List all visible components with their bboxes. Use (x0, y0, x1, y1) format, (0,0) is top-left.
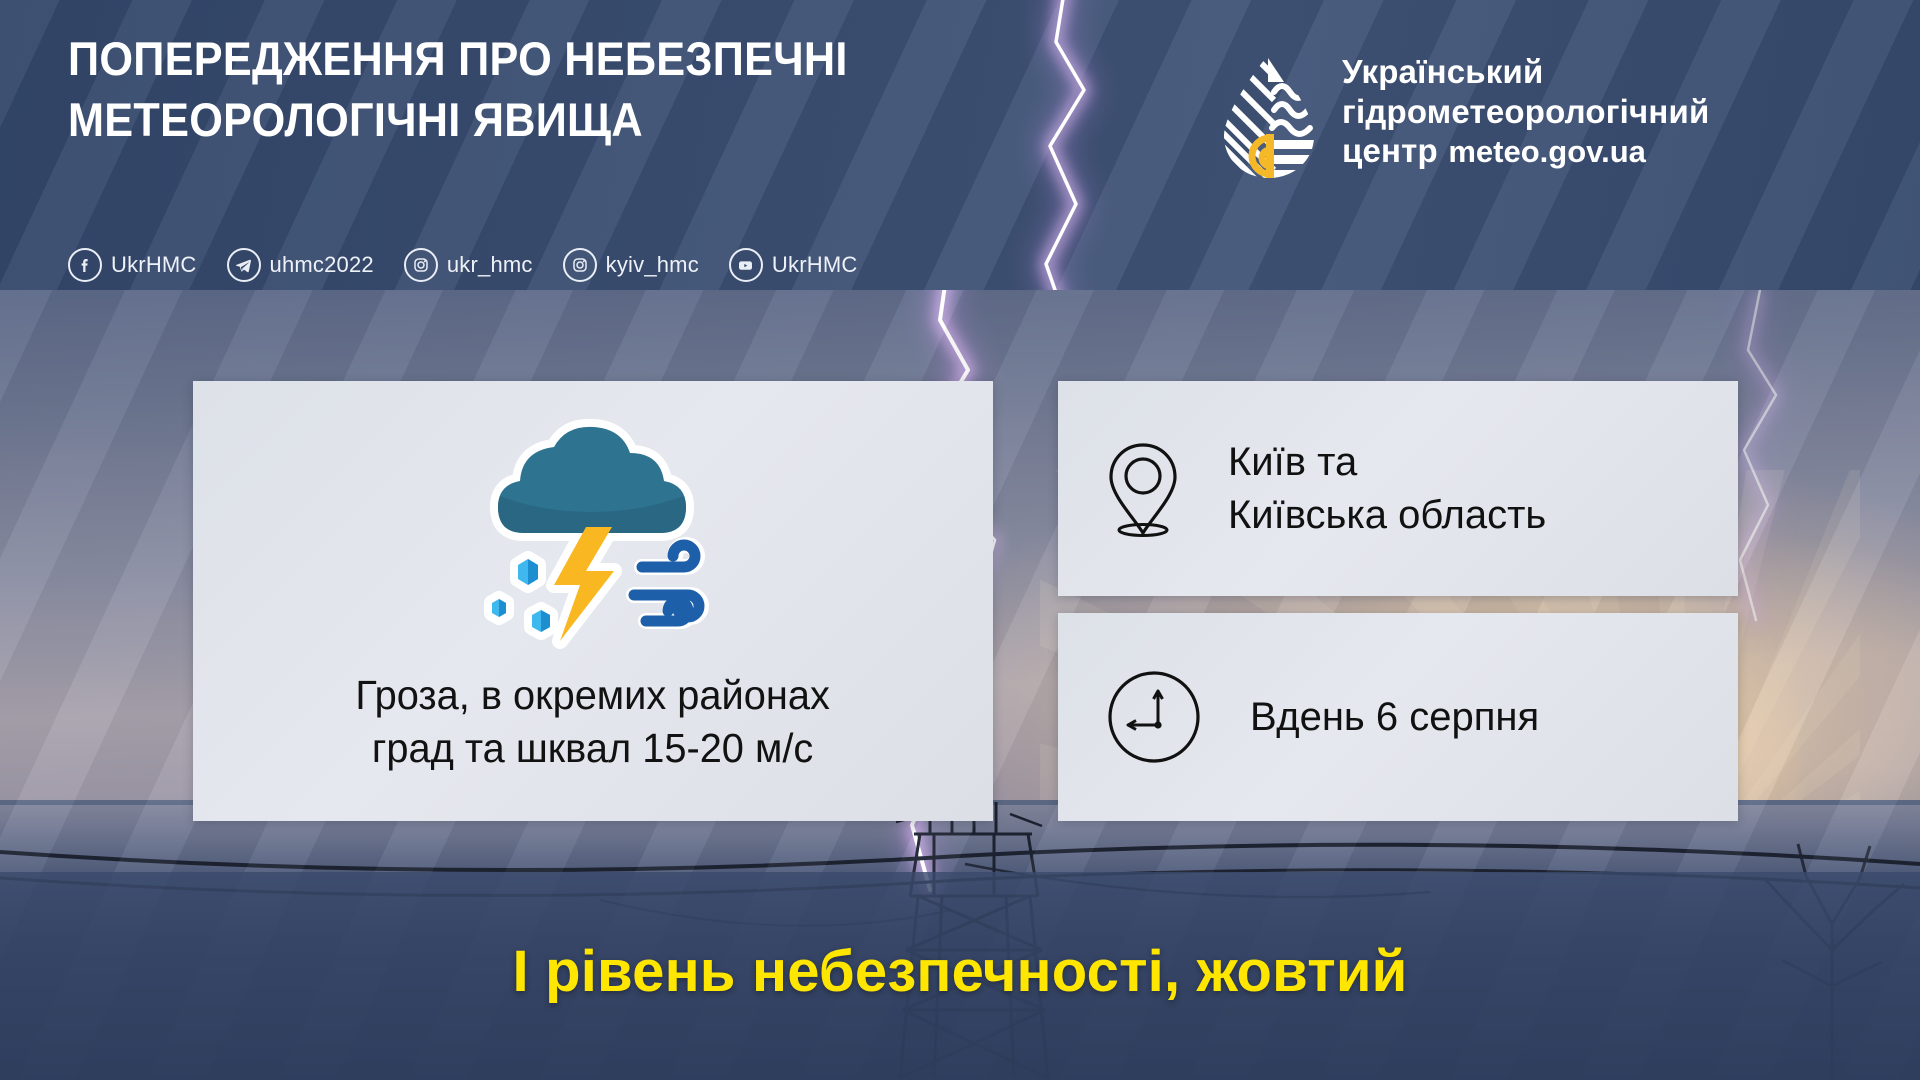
telegram-icon (227, 248, 261, 282)
poster-header: ПОПЕРЕДЖЕННЯ ПРО НЕБЕЗПЕЧНІ МЕТЕОРОЛОГІЧ… (0, 0, 1920, 290)
organisation-url: meteo.gov.ua (1442, 134, 1646, 169)
social-link-facebook[interactable]: UkrHMC (68, 248, 197, 282)
clock-icon (1104, 667, 1204, 767)
location-pin-icon (1104, 440, 1182, 538)
instagram-icon (404, 248, 438, 282)
phenomenon-caption: Гроза, в окремих районах град та шквал 1… (356, 669, 831, 776)
thunderstorm-hail-wind-icon (428, 415, 758, 665)
social-handle: UkrHMC (111, 252, 197, 278)
social-links-bar: UkrHMC uhmc2022 ukr_hm (68, 248, 857, 282)
social-link-telegram[interactable]: uhmc2022 (227, 248, 374, 282)
region-card: Київ та Київська область (1058, 381, 1738, 596)
page-title: ПОПЕРЕДЖЕННЯ ПРО НЕБЕЗПЕЧНІ МЕТЕОРОЛОГІЧ… (68, 28, 1172, 150)
phenomenon-card: Гроза, в окремих районах град та шквал 1… (193, 381, 993, 821)
social-handle: uhmc2022 (270, 252, 374, 278)
youtube-icon (729, 248, 763, 282)
date-card: Вдень 6 серпня (1058, 613, 1738, 821)
social-link-instagram-ukr[interactable]: ukr_hmc (404, 248, 533, 282)
weather-warning-poster: ПОПЕРЕДЖЕННЯ ПРО НЕБЕЗПЕЧНІ МЕТЕОРОЛОГІЧ… (0, 0, 1920, 1080)
danger-level-text: І рівень небезпечності, жовтий (0, 938, 1920, 1005)
social-handle: UkrHMC (772, 252, 858, 278)
social-link-instagram-kyiv[interactable]: kyiv_hmc (563, 248, 699, 282)
facebook-icon (68, 248, 102, 282)
social-handle: ukr_hmc (447, 252, 533, 278)
raindrop-logo-icon (1218, 52, 1320, 180)
region-text: Київ та Київська область (1228, 436, 1546, 542)
instagram-icon (563, 248, 597, 282)
date-text: Вдень 6 серпня (1250, 691, 1539, 744)
social-link-youtube[interactable]: UkrHMC (729, 248, 858, 282)
organisation-name-block: Український гідрометеорологічний центр m… (1342, 52, 1710, 171)
organisation-logo-block: Український гідрометеорологічний центр m… (1218, 52, 1710, 180)
social-handle: kyiv_hmc (606, 252, 699, 278)
